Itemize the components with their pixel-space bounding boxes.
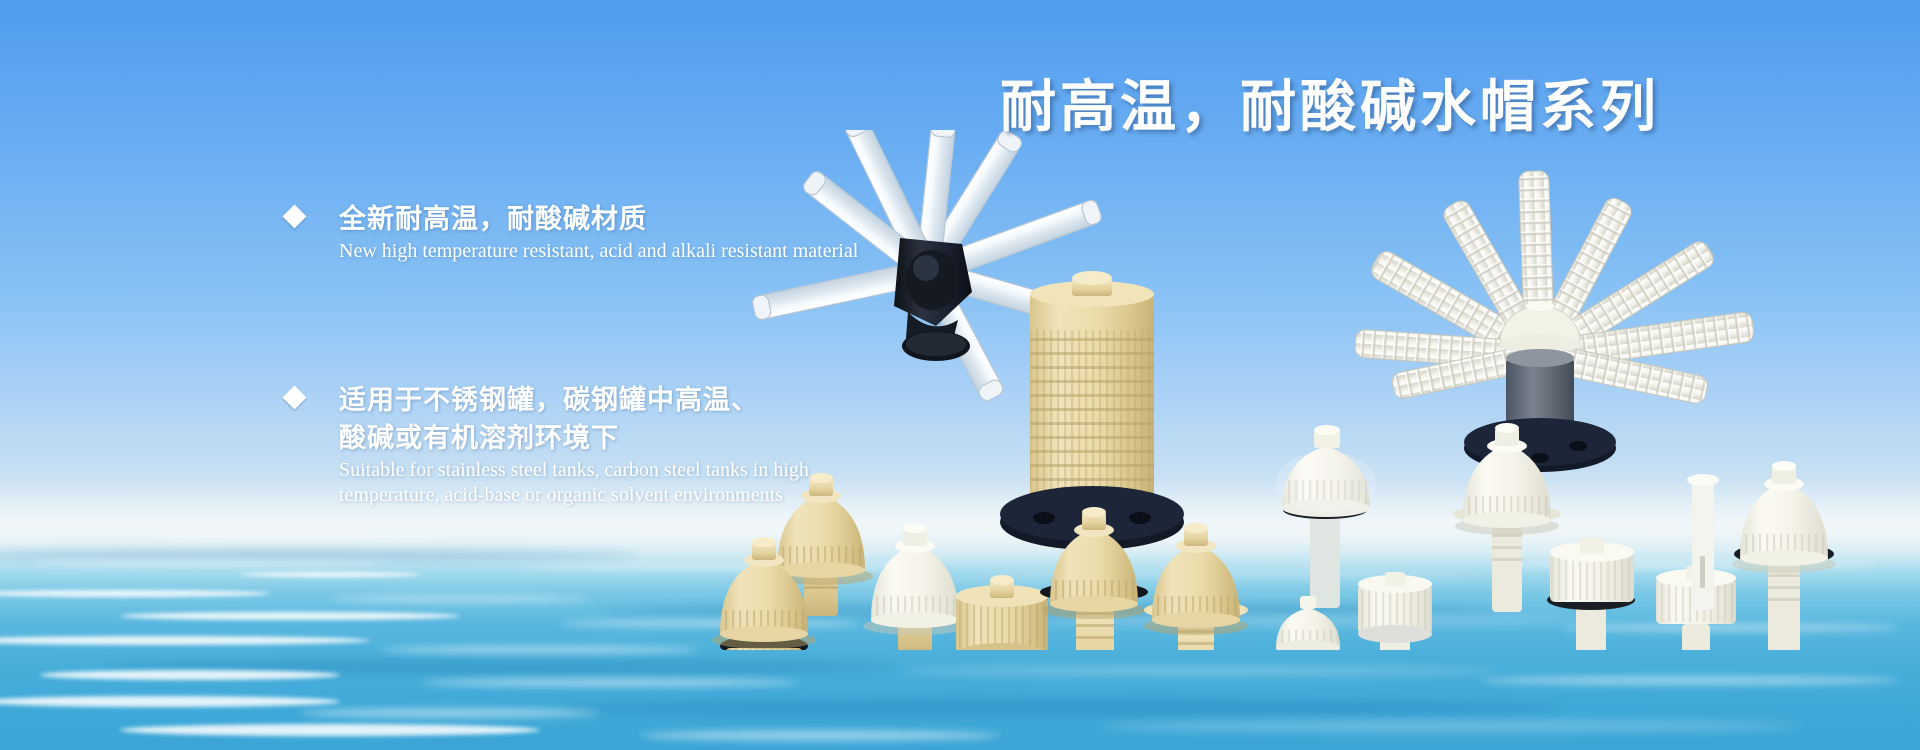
- feature-2-cn-line-1: 适用于不锈钢罐，碳钢罐中高温、: [339, 381, 1106, 419]
- diamond-bullet-icon: [282, 204, 306, 228]
- product-banner: 耐高温，耐酸碱水帽系列 全新耐高温，耐酸碱材质 New high tempera…: [0, 0, 1920, 750]
- feature-item-1: 全新耐高温，耐酸碱材质 New high temperature resista…: [286, 200, 1106, 263]
- feature-list: 全新耐高温，耐酸碱材质 New high temperature resista…: [286, 200, 1106, 507]
- page-title: 耐高温，耐酸碱水帽系列: [1000, 62, 1660, 143]
- feature-1-cn-line-1: 全新耐高温，耐酸碱材质: [339, 200, 1106, 238]
- diamond-bullet-icon: [282, 385, 306, 409]
- feature-2-cn-line-2: 酸碱或有机溶剂环境下: [339, 419, 1106, 457]
- feature-2-en-line-2: temperature, acid-base or organic solven…: [339, 483, 1106, 507]
- feature-1-en-line-1: New high temperature resistant, acid and…: [339, 239, 1106, 263]
- corrugated-tube-star-assembly: [1354, 171, 1755, 472]
- feature-2-en-line-1: Suitable for stainless steel tanks, carb…: [339, 458, 1106, 482]
- feature-item-2: 适用于不锈钢罐，碳钢罐中高温、 酸碱或有机溶剂环境下 Suitable for …: [286, 381, 1106, 507]
